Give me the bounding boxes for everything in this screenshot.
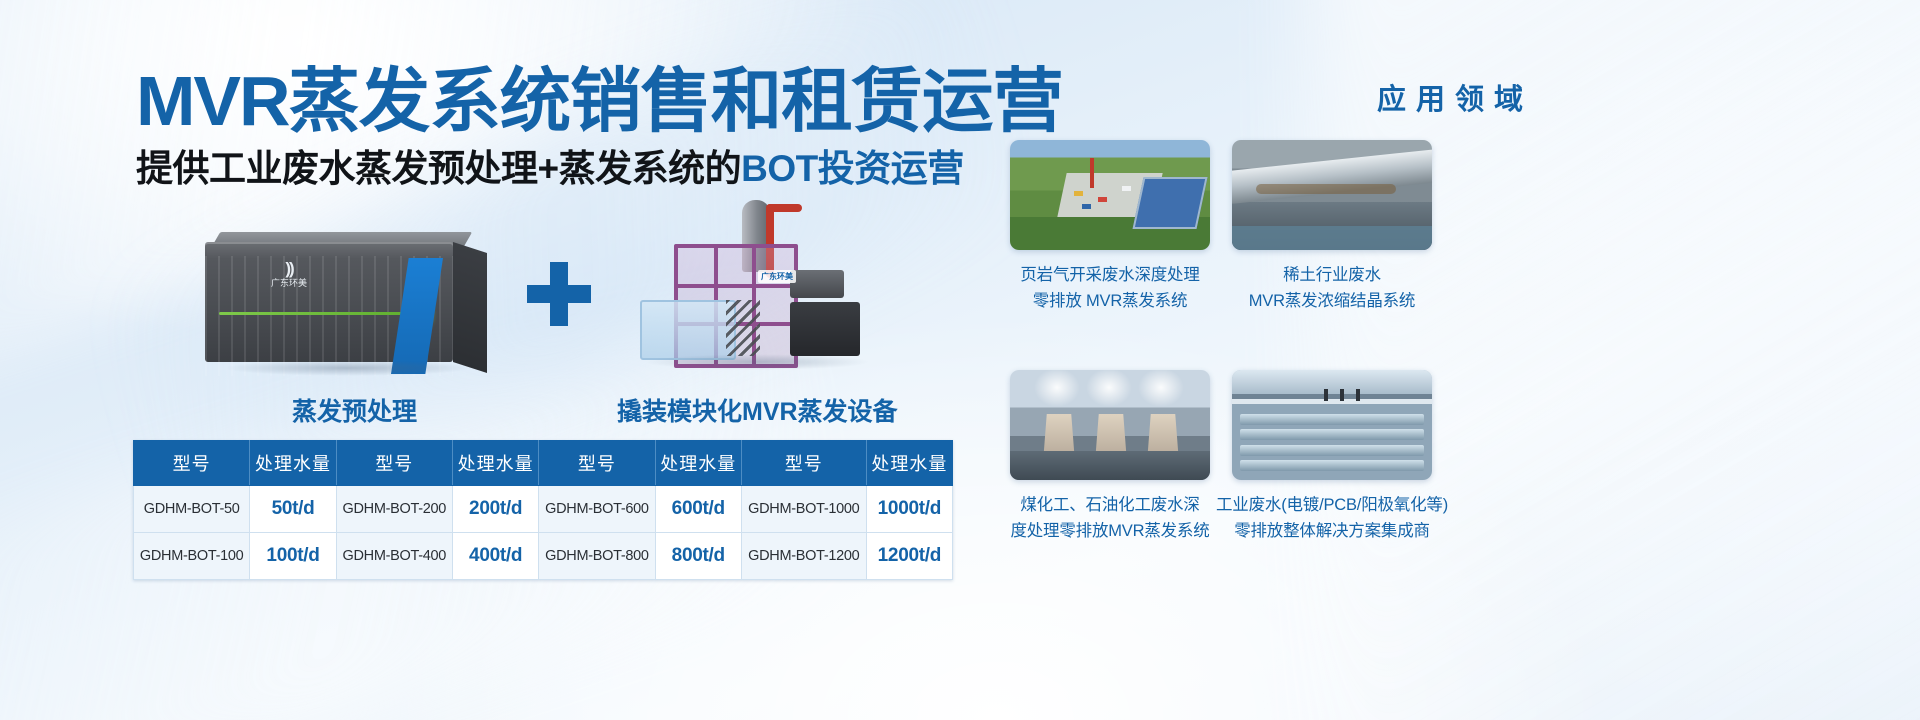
mvr-shadow bbox=[644, 354, 870, 370]
plus-icon bbox=[527, 262, 591, 326]
table-cell-model: GDHM-BOT-100 bbox=[134, 533, 250, 580]
brand-mark-icon: )) bbox=[271, 260, 307, 279]
application-card-caption: 工业废水(电镀/PCB/阳极氧化等) 零排放整体解决方案集成商 bbox=[1198, 493, 1466, 544]
container-accent-line bbox=[219, 312, 415, 315]
specification-table: 型号 处理水量 型号 处理水量 型号 处理水量 型号 处理水量 GDHM-BOT… bbox=[133, 440, 953, 580]
banner-subtitle-plain: 提供工业废水蒸发预处理+蒸发系统的 bbox=[136, 148, 741, 189]
table-header-cell: 处理水量 bbox=[452, 441, 538, 486]
applications-panel: 应用领域 页岩气开采废水深度处理 零排放 MVR蒸发系统 稀土行业废水 MVR蒸… bbox=[980, 0, 1920, 720]
mvr-brand-badge: 广东环美 bbox=[758, 270, 796, 283]
table-cell-model: GDHM-BOT-800 bbox=[539, 533, 655, 580]
container-side-face bbox=[453, 242, 487, 373]
table-row: GDHM-BOT-50 50t/d GDHM-BOT-200 200t/d GD… bbox=[134, 486, 953, 533]
table-row: GDHM-BOT-100 100t/d GDHM-BOT-400 400t/d … bbox=[134, 533, 953, 580]
application-card-shale-gas[interactable]: 页岩气开采废水深度处理 零排放 MVR蒸发系统 bbox=[1010, 140, 1210, 314]
application-card-coal-chemical[interactable]: 煤化工、石油化工废水深 度处理零排放MVR蒸发系统 bbox=[1010, 370, 1210, 544]
applications-title: 应用领域 bbox=[980, 76, 1920, 118]
coal-chemical-plant-photo bbox=[1010, 370, 1210, 480]
promo-banner: MVR蒸发系统销售和租赁运营 提供工业废水蒸发预处理+蒸发系统的BOT投资运营 … bbox=[0, 0, 1920, 720]
mvr-coil-unit bbox=[726, 300, 760, 356]
banner-title-cjk: 蒸发系统销售和租赁运营 bbox=[289, 62, 1063, 140]
industrial-pipe-wastewater-photo bbox=[1232, 140, 1432, 250]
container-brand-logo: )) 广东环美 bbox=[271, 260, 307, 289]
table-cell-model: GDHM-BOT-50 bbox=[134, 486, 250, 533]
table-cell-model: GDHM-BOT-200 bbox=[336, 486, 452, 533]
table-header-cell: 型号 bbox=[134, 441, 250, 486]
table-cell-model: GDHM-BOT-1200 bbox=[741, 533, 866, 580]
container-shadow bbox=[223, 360, 473, 376]
skid-mounted-mvr-equipment-image: 广东环美 bbox=[640, 196, 900, 382]
table-header-cell: 处理水量 bbox=[655, 441, 741, 486]
application-card-caption: 稀土行业废水 MVR蒸发浓缩结晶系统 bbox=[1232, 263, 1432, 314]
container-brand-text: 广东环美 bbox=[271, 278, 307, 288]
caption-line-1: 稀土行业废水 bbox=[1232, 263, 1432, 289]
caption-line-2: 零排放整体解决方案集成商 bbox=[1198, 519, 1466, 545]
caption-line-2: 零排放 MVR蒸发系统 bbox=[1010, 289, 1210, 315]
table-cell-capacity: 800t/d bbox=[655, 533, 741, 580]
left-panel: MVR蒸发系统销售和租赁运营 提供工业废水蒸发预处理+蒸发系统的BOT投资运营 … bbox=[0, 0, 980, 720]
table-header-cell: 型号 bbox=[741, 441, 866, 486]
table-cell-capacity: 1000t/d bbox=[866, 486, 952, 533]
mvr-red-pipe-top bbox=[766, 204, 802, 212]
application-card-rare-earth[interactable]: 稀土行业废水 MVR蒸发浓缩结晶系统 bbox=[1232, 140, 1432, 314]
table-cell-capacity: 100t/d bbox=[250, 533, 336, 580]
banner-subtitle-highlight: BOT投资运营 bbox=[741, 148, 964, 189]
caption-line-2: MVR蒸发浓缩结晶系统 bbox=[1232, 289, 1432, 315]
container-body: )) 广东环美 bbox=[205, 242, 453, 362]
left-figure-label: 蒸发预处理 bbox=[292, 392, 417, 428]
application-card-industrial-wastewater[interactable]: 工业废水(电镀/PCB/阳极氧化等) 零排放整体解决方案集成商 bbox=[1232, 370, 1432, 544]
evaporation-pretreatment-container-image: )) 广东环美 bbox=[205, 228, 480, 378]
application-card-caption: 页岩气开采废水深度处理 零排放 MVR蒸发系统 bbox=[1010, 263, 1210, 314]
wastewater-treatment-tanks-photo bbox=[1232, 370, 1432, 480]
table-cell-model: GDHM-BOT-1000 bbox=[741, 486, 866, 533]
banner-title-latin: MVR bbox=[136, 62, 289, 140]
table-header-cell: 型号 bbox=[539, 441, 655, 486]
table-cell-capacity: 400t/d bbox=[452, 533, 538, 580]
table-cell-model: GDHM-BOT-400 bbox=[336, 533, 452, 580]
mvr-clear-tank bbox=[640, 300, 736, 360]
table-cell-model: GDHM-BOT-600 bbox=[539, 486, 655, 533]
table-cell-capacity: 200t/d bbox=[452, 486, 538, 533]
shale-gas-site-photo bbox=[1010, 140, 1210, 250]
banner-subtitle: 提供工业废水蒸发预处理+蒸发系统的BOT投资运营 bbox=[136, 150, 964, 187]
banner-title: MVR蒸发系统销售和租赁运营 bbox=[136, 66, 1063, 136]
table-header-cell: 型号 bbox=[336, 441, 452, 486]
mvr-control-box bbox=[790, 302, 860, 356]
right-figure-label: 撬装模块化MVR蒸发设备 bbox=[617, 392, 898, 428]
caption-line-1: 页岩气开采废水深度处理 bbox=[1010, 263, 1210, 289]
table-cell-capacity: 1200t/d bbox=[866, 533, 952, 580]
mvr-control-box-upper bbox=[790, 270, 844, 298]
caption-line-1: 工业废水(电镀/PCB/阳极氧化等) bbox=[1198, 493, 1466, 519]
table-header-row: 型号 处理水量 型号 处理水量 型号 处理水量 型号 处理水量 bbox=[134, 441, 953, 486]
table-cell-capacity: 600t/d bbox=[655, 486, 741, 533]
table-header-cell: 处理水量 bbox=[866, 441, 952, 486]
table-header-cell: 处理水量 bbox=[250, 441, 336, 486]
table-cell-capacity: 50t/d bbox=[250, 486, 336, 533]
